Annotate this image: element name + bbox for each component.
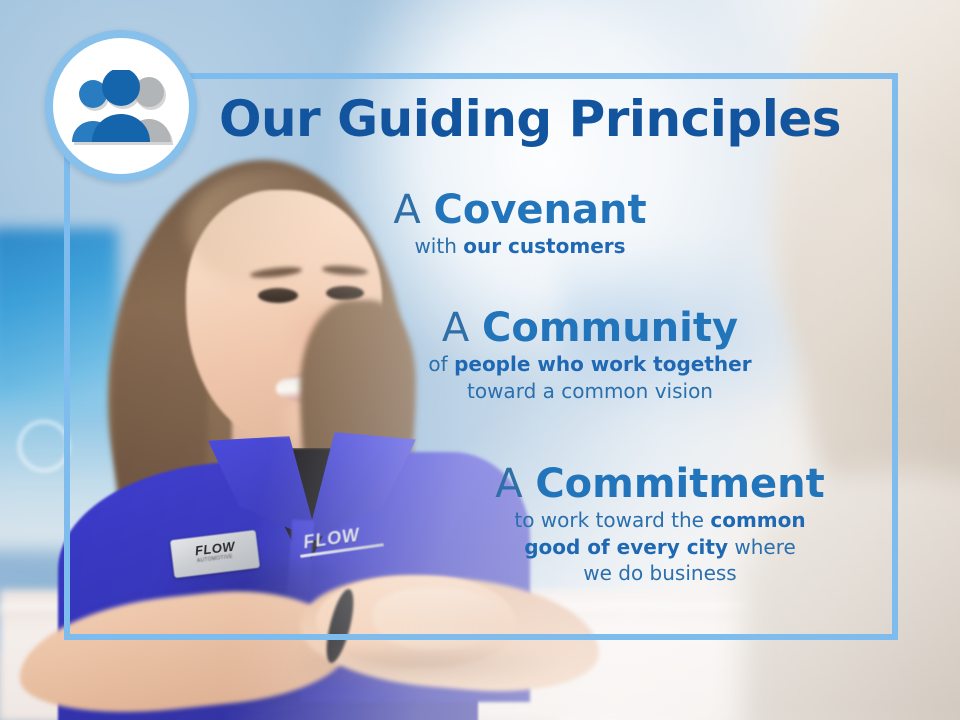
flyer-canvas: FLOW AUTOMOTIVE FLOW (0, 0, 960, 720)
principle-subtext-0: with our customers (300, 233, 740, 260)
principle-block-community: A Community of people who work togethert… (360, 306, 820, 404)
principle-headline-0: A Covenant (300, 188, 740, 233)
principle-headline-2: A Commitment (430, 462, 890, 507)
people-group-badge (45, 30, 197, 182)
principle-subtext-1: of people who work togethertoward a comm… (360, 351, 820, 405)
principle-headline-1: A Community (360, 306, 820, 351)
principle-subtext-2: to work toward the commongood of every c… (430, 507, 890, 587)
people-group-icon (67, 70, 175, 148)
page-title: Our Guiding Principles (190, 93, 870, 146)
principle-block-commitment: A Commitment to work toward the commongo… (430, 462, 890, 587)
principle-block-covenant: A Covenant with our customers (300, 188, 740, 260)
